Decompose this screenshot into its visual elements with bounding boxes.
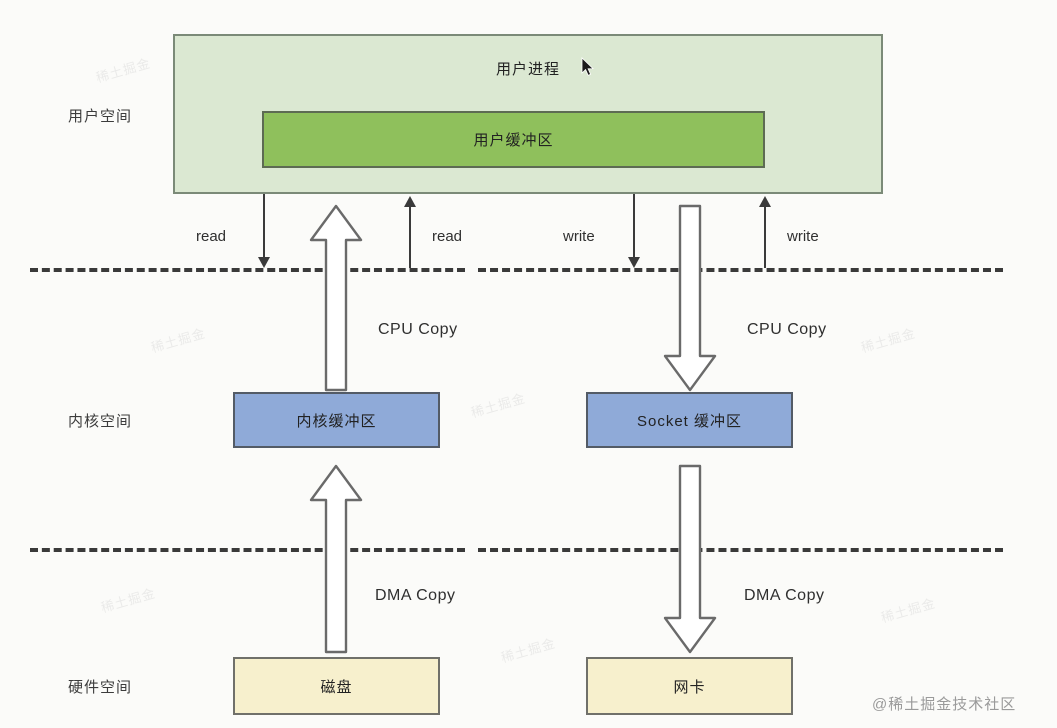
label-read-return: read	[432, 228, 462, 245]
box-user-buffer-label: 用户缓冲区	[473, 129, 553, 150]
hollow-arrow-dma-copy-up	[308, 463, 364, 655]
watermark: @稀土掘金技术社区	[872, 693, 1016, 714]
zone-label-hardware-space: 硬件空间	[68, 676, 132, 697]
arrow-write-call	[633, 194, 635, 258]
arrow-read-return	[409, 206, 411, 268]
label-dma-copy-right: DMA Copy	[744, 587, 824, 605]
box-disk[interactable]: 磁盘	[233, 657, 440, 715]
hollow-arrow-dma-copy-down	[662, 463, 718, 655]
ghost-watermark: 稀土掘金	[878, 593, 937, 627]
arrow-read-call	[263, 194, 265, 258]
zone-label-user-space: 用户空间	[68, 105, 132, 126]
ghost-watermark: 稀土掘金	[148, 323, 207, 357]
divider-user-kernel-right	[478, 268, 1003, 272]
ghost-watermark: 稀土掘金	[858, 323, 917, 357]
arrow-write-return	[764, 206, 766, 268]
box-socket-buffer-label: Socket 缓冲区	[637, 410, 742, 431]
label-dma-copy-left: DMA Copy	[375, 587, 455, 605]
divider-kernel-hardware-right	[478, 548, 1003, 552]
box-nic-label: 网卡	[673, 676, 705, 697]
hollow-arrow-cpu-copy-down	[662, 203, 718, 393]
ghost-watermark: 稀土掘金	[98, 583, 157, 617]
divider-kernel-hardware-left	[30, 548, 465, 552]
divider-user-kernel-left	[30, 268, 465, 272]
label-cpu-copy-right: CPU Copy	[747, 321, 827, 339]
box-user-process-label: 用户进程	[496, 58, 560, 79]
box-socket-buffer[interactable]: Socket 缓冲区	[586, 392, 793, 448]
zone-label-kernel-space: 内核空间	[68, 410, 132, 431]
hollow-arrow-cpu-copy-up	[308, 203, 364, 393]
label-read-call: read	[196, 228, 226, 245]
box-kernel-buffer[interactable]: 内核缓冲区	[233, 392, 440, 448]
diagram-canvas: 稀土掘金 稀土掘金 稀土掘金 稀土掘金 稀土掘金 稀土掘金 稀土掘金 稀土掘金 …	[0, 0, 1057, 728]
ghost-watermark: 稀土掘金	[93, 53, 152, 87]
box-nic[interactable]: 网卡	[586, 657, 793, 715]
ghost-watermark: 稀土掘金	[468, 388, 527, 422]
ghost-watermark: 稀土掘金	[498, 633, 557, 667]
box-disk-label: 磁盘	[320, 676, 352, 697]
label-cpu-copy-left: CPU Copy	[378, 321, 458, 339]
box-kernel-buffer-label: 内核缓冲区	[296, 410, 376, 431]
box-user-buffer[interactable]: 用户缓冲区	[262, 111, 765, 168]
label-write-return: write	[787, 228, 819, 245]
label-write-call: write	[563, 228, 595, 245]
